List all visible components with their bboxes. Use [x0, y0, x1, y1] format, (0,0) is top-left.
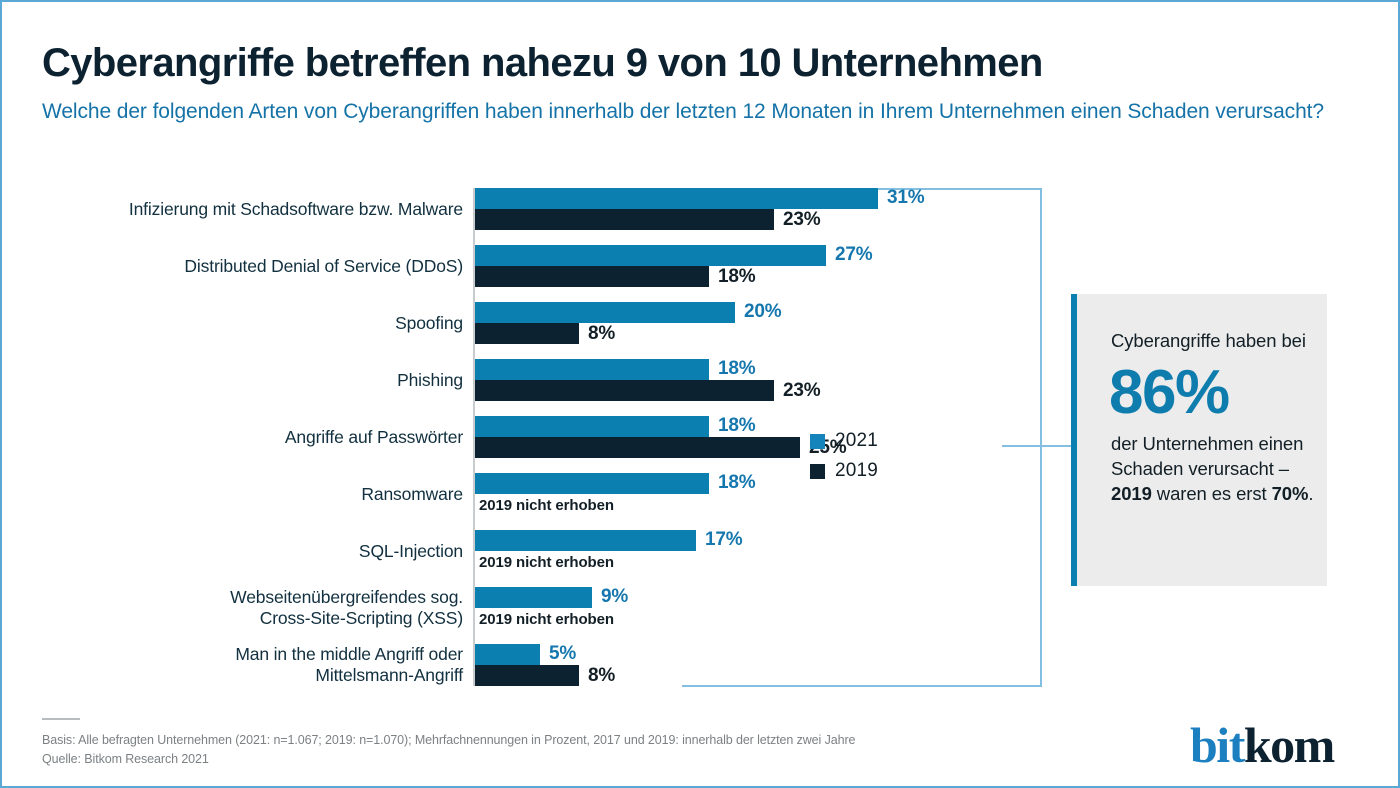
chart-row: Webseitenübergreifendes sog.Cross-Site-S…	[42, 587, 1042, 629]
category-label-line: Cross-Site-Scripting (XSS)	[43, 608, 463, 629]
category-label-line: SQL-Injection	[43, 541, 463, 562]
legend-item: 2021	[810, 426, 878, 456]
infographic-root: Cyberangriffe betreffen nahezu 9 von 10 …	[0, 0, 1400, 788]
chart-row: Angriffe auf Passwörter18%25%	[42, 416, 1042, 458]
bar-value-2019: 23%	[783, 209, 820, 231]
bar-2019	[475, 266, 709, 287]
category-label: SQL-Injection	[43, 541, 463, 562]
callout-tail-text: der Unternehmen einen Schaden verursacht…	[1111, 431, 1327, 506]
bar-2021	[475, 473, 709, 494]
category-label: Phishing	[43, 370, 463, 391]
category-label-line: Distributed Denial of Service (DDoS)	[43, 256, 463, 277]
bar-2019	[475, 437, 800, 458]
callout-tail-1: der Unternehmen einen Schaden verursacht…	[1111, 433, 1303, 479]
bar-value-2021: 17%	[705, 529, 742, 551]
category-label: Spoofing	[43, 313, 463, 334]
chart-row: Infizierung mit Schadsoftware bzw. Malwa…	[42, 188, 1042, 230]
chart-row: Man in the middle Angriff oderMittelsman…	[42, 644, 1042, 686]
bar-2021	[475, 530, 696, 551]
legend-swatch-icon	[810, 434, 825, 449]
bar-value-2019: 8%	[588, 323, 615, 345]
page-subtitle: Welche der folgenden Arten von Cyberangr…	[42, 97, 1332, 126]
bar-2021	[475, 359, 709, 380]
bar-value-2021: 31%	[887, 187, 924, 209]
not-surveyed-note: 2019 nicht erhoben	[479, 554, 614, 571]
callout-tail-3: .	[1308, 483, 1313, 504]
category-label-line: Man in the middle Angriff oder	[43, 644, 463, 665]
category-label-line: Spoofing	[43, 313, 463, 334]
logo-part-bit: bit	[1190, 717, 1244, 773]
bar-value-2021: 18%	[718, 415, 755, 437]
bar-2019	[475, 665, 579, 686]
chart-legend: 20212019	[810, 426, 878, 486]
bar-value-2021: 5%	[549, 643, 576, 665]
category-label: Infizierung mit Schadsoftware bzw. Malwa…	[43, 199, 463, 220]
bar-value-2019: 8%	[588, 665, 615, 687]
category-label: Angriffe auf Passwörter	[43, 427, 463, 448]
bar-2019	[475, 209, 774, 230]
not-surveyed-note: 2019 nicht erhoben	[479, 611, 614, 628]
bar-2021	[475, 188, 878, 209]
chart-row: Phishing18%23%	[42, 359, 1042, 401]
bar-value-2019: 23%	[783, 380, 820, 402]
callout-box: Cyberangriffe haben bei 86% der Unterneh…	[1071, 294, 1327, 586]
footer-basis: Basis: Alle befragten Unternehmen (2021:…	[42, 733, 855, 747]
footer-source: Quelle: Bitkom Research 2021	[42, 752, 209, 766]
category-label: Man in the middle Angriff oderMittelsman…	[43, 644, 463, 686]
bar-2019	[475, 323, 579, 344]
chart-row: Ransomware18%2019 nicht erhoben	[42, 473, 1042, 515]
not-surveyed-note: 2019 nicht erhoben	[479, 497, 614, 514]
bar-2021	[475, 644, 540, 665]
bar-value-2021: 20%	[744, 301, 781, 323]
footer-divider	[42, 718, 80, 720]
logo-part-kom: kom	[1244, 717, 1334, 773]
bar-value-2021: 27%	[835, 244, 872, 266]
bar-value-2019: 18%	[718, 266, 755, 288]
callout-tail-bold-1: 2019	[1111, 483, 1152, 504]
bar-value-2021: 18%	[718, 472, 755, 494]
category-label-line: Angriffe auf Passwörter	[43, 427, 463, 448]
bar-2021	[475, 245, 826, 266]
chart-row: SQL-Injection17%2019 nicht erhoben	[42, 530, 1042, 572]
chart-row: Spoofing20%8%	[42, 302, 1042, 344]
category-label-line: Ransomware	[43, 484, 463, 505]
category-label-line: Mittelsmann-Angriff	[43, 665, 463, 686]
category-label: Webseitenübergreifendes sog.Cross-Site-S…	[43, 587, 463, 629]
bar-chart: Infizierung mit Schadsoftware bzw. Malwa…	[42, 188, 1042, 688]
legend-label: 2019	[835, 460, 878, 482]
legend-swatch-icon	[810, 464, 825, 479]
legend-label: 2021	[835, 430, 878, 452]
category-label-line: Webseitenübergreifendes sog.	[43, 587, 463, 608]
legend-item: 2019	[810, 456, 878, 486]
category-label: Ransomware	[43, 484, 463, 505]
bar-2019	[475, 380, 774, 401]
bar-value-2021: 9%	[601, 586, 628, 608]
bar-2021	[475, 302, 735, 323]
callout-highlight-value: 86%	[1109, 359, 1327, 427]
bitkom-logo: bitkom	[1190, 720, 1334, 770]
callout-lead-text: Cyberangriffe haben bei	[1111, 328, 1327, 353]
chart-row: Distributed Denial of Service (DDoS)27%1…	[42, 245, 1042, 287]
callout-tail-2: waren es erst	[1152, 483, 1272, 504]
bar-2021	[475, 587, 592, 608]
bar-value-2021: 18%	[718, 358, 755, 380]
category-label-line: Infizierung mit Schadsoftware bzw. Malwa…	[43, 199, 463, 220]
category-label: Distributed Denial of Service (DDoS)	[43, 256, 463, 277]
page-title: Cyberangriffe betreffen nahezu 9 von 10 …	[42, 41, 1043, 86]
callout-tail-bold-2: 70%	[1272, 483, 1309, 504]
bar-2021	[475, 416, 709, 437]
category-label-line: Phishing	[43, 370, 463, 391]
